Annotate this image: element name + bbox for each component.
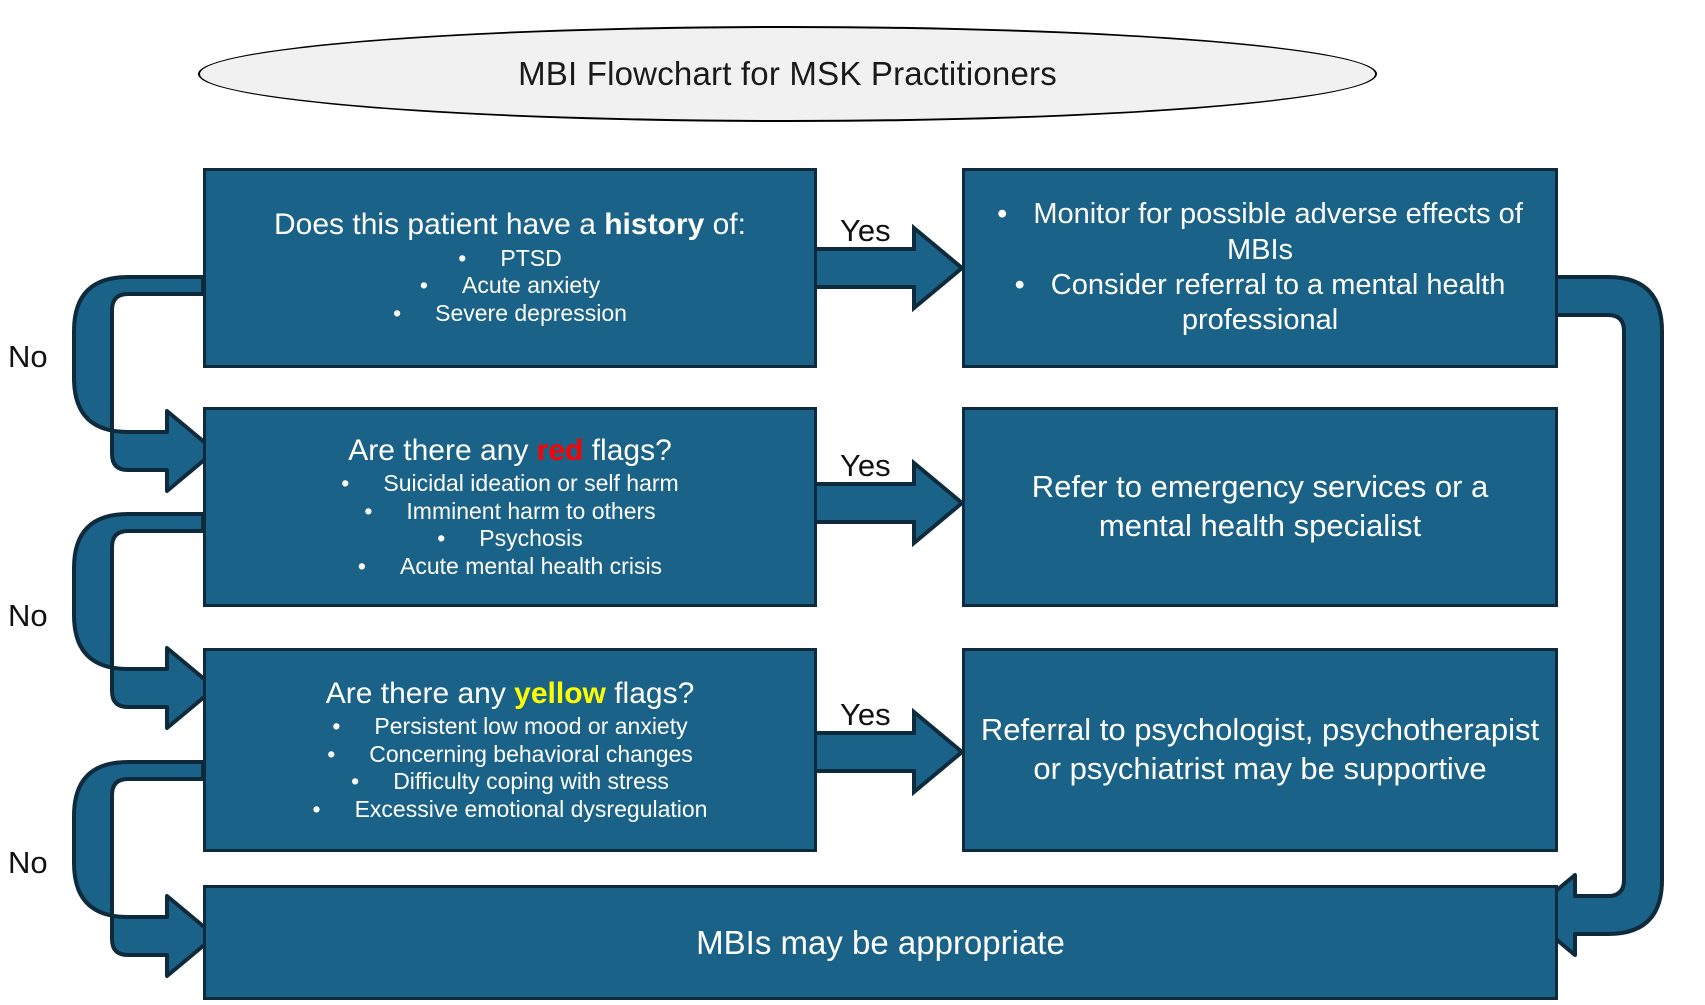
bullet-text: Monitor for possible adverse effects of … <box>1033 198 1523 265</box>
outcome-box-emergency[interactable]: Refer to emergency services or a mental … <box>962 407 1558 607</box>
bullet-dot-icon: • <box>341 470 349 498</box>
decision-box-red-flags[interactable]: Are there any red flags? •Suicidal ideat… <box>203 407 817 607</box>
list-item: •Consider referral to a mental health pr… <box>975 268 1545 339</box>
edge-label-no-3: No <box>8 845 48 881</box>
list-item: •PTSD <box>216 245 804 273</box>
decision-yellow-bullet-list: •Persistent low mood or anxiety •Concern… <box>216 713 804 823</box>
no-connector-2 <box>74 514 215 728</box>
decision-yellow-heading-prefix: Are there any <box>326 677 514 710</box>
bullet-dot-icon: • <box>997 197 1007 232</box>
chart-title-ellipse: MBI Flowchart for MSK Practitioners <box>198 26 1377 122</box>
decision-red-heading-emphasis: red <box>537 434 584 467</box>
decision-history-heading-suffix: of: <box>704 208 746 241</box>
outcome-monitor-bullet-list: •Monitor for possible adverse effects of… <box>975 197 1545 339</box>
decision-history-heading-prefix: Does this patient have a <box>274 208 604 241</box>
outcome-psych-referral-text: Referral to psychologist, psychotherapis… <box>980 711 1540 789</box>
bullet-dot-icon: • <box>313 796 321 824</box>
list-item: •Acute anxiety <box>216 272 804 300</box>
decision-red-heading: Are there any red flags? <box>348 434 672 469</box>
bullet-text: Excessive emotional dysregulation <box>355 796 708 822</box>
terminal-box-text: MBIs may be appropriate <box>696 923 1065 963</box>
list-item: •Acute mental health crisis <box>216 553 804 581</box>
decision-box-history[interactable]: Does this patient have a history of: •PT… <box>203 168 817 368</box>
bullet-dot-icon: • <box>393 300 401 328</box>
list-item: •Imminent harm to others <box>216 498 804 526</box>
decision-yellow-heading: Are there any yellow flags? <box>326 677 695 712</box>
decision-box-yellow-flags[interactable]: Are there any yellow flags? •Persistent … <box>203 648 817 852</box>
bullet-text: Suicidal ideation or self harm <box>383 470 678 496</box>
bullet-text: Acute mental health crisis <box>400 553 662 579</box>
bullet-text: PTSD <box>500 245 561 271</box>
decision-red-heading-suffix: flags? <box>583 434 671 467</box>
bullet-text: Psychosis <box>479 525 583 551</box>
bullet-dot-icon: • <box>364 498 372 526</box>
bullet-dot-icon: • <box>332 713 340 741</box>
list-item: •Suicidal ideation or self harm <box>216 470 804 498</box>
bullet-text: Difficulty coping with stress <box>393 768 669 794</box>
bullet-text: Persistent low mood or anxiety <box>374 713 687 739</box>
bullet-text: Imminent harm to others <box>406 498 655 524</box>
no-connector-1 <box>74 277 215 491</box>
bullet-dot-icon: • <box>458 245 466 273</box>
bullet-text: Severe depression <box>435 300 627 326</box>
chart-title-text: MBI Flowchart for MSK Practitioners <box>518 55 1057 93</box>
bullet-dot-icon: • <box>351 768 359 796</box>
edge-label-yes-1: Yes <box>840 213 891 249</box>
no-connector-3 <box>74 762 215 976</box>
outcome-box-monitor[interactable]: •Monitor for possible adverse effects of… <box>962 168 1558 368</box>
edge-label-yes-3: Yes <box>840 697 891 733</box>
decision-red-bullet-list: •Suicidal ideation or self harm •Imminen… <box>216 470 804 580</box>
bullet-dot-icon: • <box>420 272 428 300</box>
flowchart-canvas: MBI Flowchart for MSK Practitioners Does… <box>0 0 1705 1005</box>
list-item: •Concerning behavioral changes <box>216 741 804 769</box>
outcome-emergency-text: Refer to emergency services or a mental … <box>1000 468 1520 546</box>
list-item: •Difficulty coping with stress <box>216 768 804 796</box>
edge-label-yes-2: Yes <box>840 448 891 484</box>
bullet-dot-icon: • <box>327 741 335 769</box>
decision-yellow-heading-emphasis: yellow <box>514 677 606 710</box>
decision-history-heading: Does this patient have a history of: <box>274 208 746 243</box>
bullet-text: Acute anxiety <box>462 272 600 298</box>
bullet-text: Consider referral to a mental health pro… <box>1051 269 1506 336</box>
list-item: •Severe depression <box>216 300 804 328</box>
list-item: •Excessive emotional dysregulation <box>216 796 804 824</box>
bullet-dot-icon: • <box>1015 268 1025 303</box>
bullet-text: Concerning behavioral changes <box>369 741 693 767</box>
edge-label-no-1: No <box>8 339 48 375</box>
return-connector-right <box>1527 277 1662 955</box>
list-item: •Psychosis <box>216 525 804 553</box>
bullet-dot-icon: • <box>358 553 366 581</box>
list-item: •Monitor for possible adverse effects of… <box>975 197 1545 268</box>
decision-yellow-heading-suffix: flags? <box>606 677 694 710</box>
terminal-box-mbis-appropriate[interactable]: MBIs may be appropriate <box>203 885 1558 1000</box>
outcome-box-psych-referral[interactable]: Referral to psychologist, psychotherapis… <box>962 648 1558 852</box>
edge-label-no-2: No <box>8 598 48 634</box>
decision-history-heading-emphasis: history <box>604 208 704 241</box>
decision-history-bullet-list: •PTSD •Acute anxiety •Severe depression <box>216 245 804 328</box>
decision-red-heading-prefix: Are there any <box>348 434 536 467</box>
bullet-dot-icon: • <box>437 525 445 553</box>
list-item: •Persistent low mood or anxiety <box>216 713 804 741</box>
